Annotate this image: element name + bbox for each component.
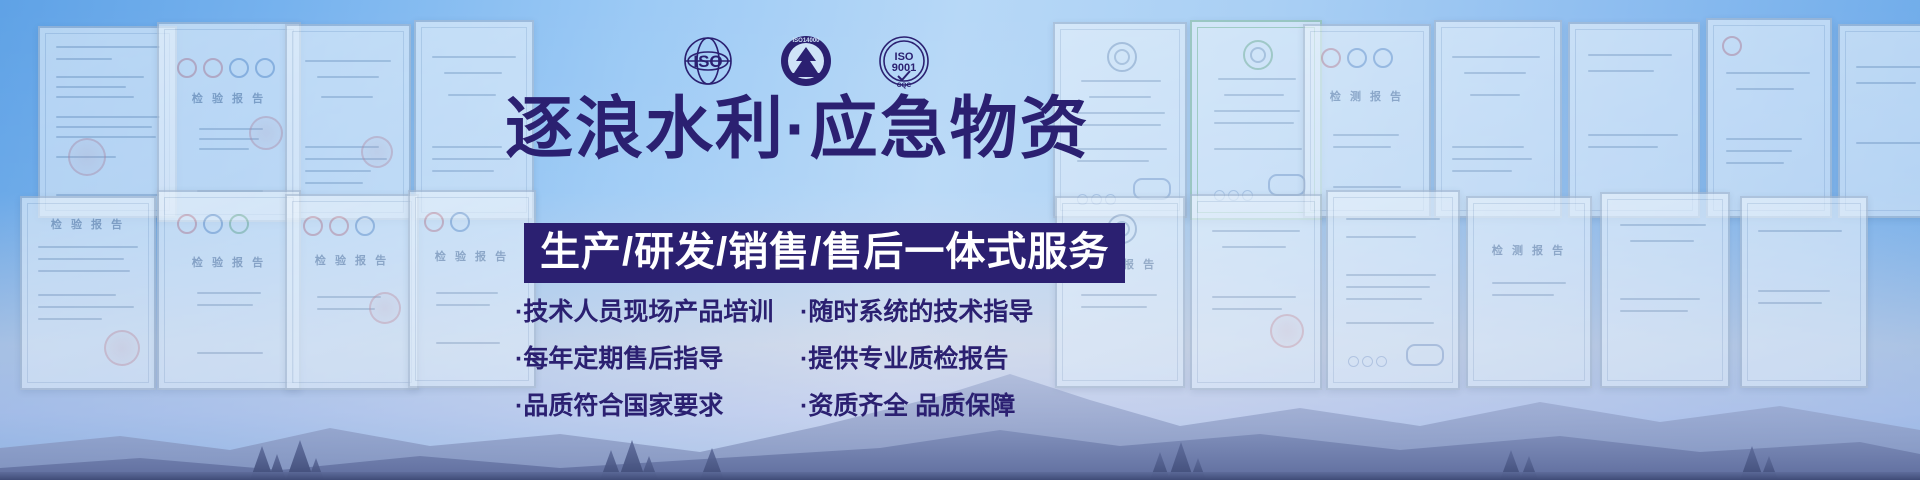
iso-globe-logo-icon: ISO — [680, 33, 736, 89]
cma-mark-icon — [1373, 48, 1393, 68]
svg-text:9001: 9001 — [892, 62, 916, 74]
feature-item: ·提供专业质检报告 — [800, 347, 1045, 372]
cqc-mark-icon — [424, 212, 444, 232]
cqc-mark-icon — [177, 58, 197, 78]
feature-item: ·随时系统的技术指导 — [800, 300, 1045, 325]
certificate-thumbnail — [1838, 24, 1920, 218]
iso9001-cqc-logo-icon: ISO 9001 CQC — [876, 33, 932, 89]
svg-text:CQC: CQC — [897, 82, 912, 89]
svg-text:ISO: ISO — [693, 52, 722, 71]
certificate-thumbnail — [1434, 20, 1562, 218]
feature-item: ·技术人员现场产品培训 — [515, 300, 800, 325]
certificate-border — [1441, 27, 1555, 211]
certificate-thumbnail — [1568, 22, 1700, 218]
promo-banner: 检 验 报 告 — [0, 0, 1920, 480]
cnas-mark-icon — [450, 212, 470, 232]
feature-item: ·资质齐全 品质保障 — [800, 394, 1045, 419]
environment-mark-icon — [229, 214, 249, 234]
cqc-mark-icon — [303, 216, 323, 236]
ccc-mark-icon — [329, 216, 349, 236]
subtitle-text: 生产/研发/销售/售后一体式服务 — [540, 230, 1109, 274]
cnas-mark-icon — [203, 214, 223, 234]
iso14000-environmental-logo-icon: ISO14000 — [778, 33, 834, 89]
cqc-mark-icon — [177, 214, 197, 234]
svg-text:ISO14000: ISO14000 — [792, 38, 820, 44]
cnas-mark-icon — [1347, 48, 1367, 68]
feature-item: ·每年定期售后指导 — [515, 347, 800, 372]
certificate-thumbnail — [285, 24, 411, 220]
iaf-mark-icon — [1268, 174, 1306, 196]
certificate-border — [292, 31, 404, 213]
cqc-mark-icon — [1321, 48, 1341, 68]
certificate-thumbnail: 检 测 报 告 — [1303, 24, 1431, 218]
quality-emblem-icon — [1107, 42, 1137, 72]
iso-certification-logos: ISO ISO14000 ISO — [680, 33, 932, 89]
certificate-border — [1845, 31, 1920, 211]
ccc-mark-icon — [203, 58, 223, 78]
banner-content: ISO ISO14000 ISO — [505, 0, 1085, 480]
cqc-mark-icon — [1722, 36, 1742, 56]
feature-list: ·技术人员现场产品培训 ·随时系统的技术指导 ·每年定期售后指导 ·提供专业质检… — [515, 300, 1085, 419]
cnas-mark-icon — [229, 58, 249, 78]
feature-item: ·品质符合国家要求 — [515, 394, 800, 419]
page-title: 逐浪水利·应急物资 — [505, 95, 1085, 163]
certificate-border — [1575, 29, 1693, 211]
cnas-mark-icon — [355, 216, 375, 236]
subtitle-bar: 生产/研发/销售/售后一体式服务 — [524, 223, 1125, 283]
cma-mark-icon — [255, 58, 275, 78]
certificate-thumbnail — [1706, 18, 1832, 218]
environment-emblem-icon — [1243, 40, 1273, 70]
